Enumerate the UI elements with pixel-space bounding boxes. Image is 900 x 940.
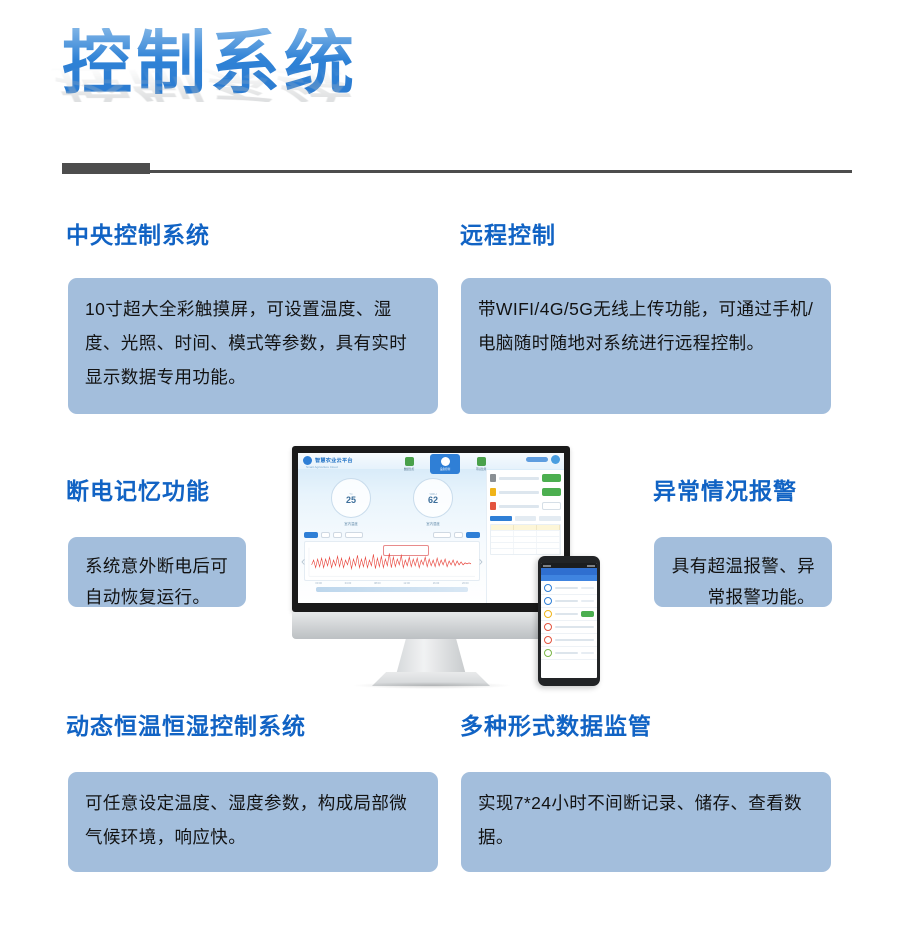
table-row[interactable]	[491, 548, 560, 554]
card-abnormal-alarm: 具有超温报警、异常报警功能。	[654, 537, 832, 607]
phone-item-label	[555, 587, 578, 590]
dashboard-user-area[interactable]	[526, 455, 560, 464]
card-power-outage-memory: 系统意外断电后可自动恢复运行。	[68, 537, 246, 607]
chart-line-series	[305, 542, 479, 580]
pump-control-icon	[544, 649, 552, 657]
chart-x-tick: 20:00	[462, 582, 469, 585]
mobile-phone	[538, 556, 600, 686]
control-label	[499, 505, 539, 508]
user-name-pill	[526, 457, 548, 462]
monitor-stand-neck	[396, 639, 466, 675]
light-bulb-icon	[490, 488, 496, 496]
gauge-value: 62	[428, 496, 438, 505]
phone-item-label	[555, 613, 578, 616]
side-data-table	[490, 524, 561, 555]
chart-export-button[interactable]	[433, 532, 451, 538]
chart-date-input[interactable]	[345, 532, 363, 538]
device-illustration: 智慧农业云平台 Smart Agriculture Cloud 数据监控 设备控…	[292, 446, 582, 686]
platform-subtitle: Smart Agriculture Cloud	[306, 465, 338, 469]
phone-list-item[interactable]	[541, 608, 597, 621]
chart-toolbar-right	[433, 532, 480, 538]
table-cell	[537, 543, 560, 548]
table-row[interactable]	[491, 536, 560, 542]
chart-plot-area: ‹ ›	[304, 541, 480, 581]
gauge-caption: 室内湿度	[426, 521, 440, 526]
table-cell	[514, 543, 537, 548]
divider-thin-line	[62, 170, 852, 173]
table-cell	[491, 531, 514, 536]
control-row[interactable]	[490, 488, 561, 496]
phone-list-item[interactable]	[541, 582, 597, 595]
fan-control-icon	[544, 610, 552, 618]
table-cell	[537, 549, 560, 554]
heading-remote-control: 远程控制	[460, 224, 556, 247]
card-central-control: 10寸超大全彩触摸屏，可设置温度、湿度、光照、时间、模式等参数，具有实时显示数据…	[68, 278, 438, 414]
heading-dynamic-temp-humidity: 动态恒温恒湿控制系统	[66, 715, 306, 738]
side-tab[interactable]	[515, 516, 537, 521]
card-dynamic-temp-humidity: 可任意设定温度、湿度参数，构成局部微气候环境，响应快。	[68, 772, 438, 872]
chart-range-button[interactable]	[321, 532, 330, 538]
gauge-caption: 室内温度	[344, 521, 358, 526]
divider-thick-block	[62, 163, 150, 174]
heading-multi-form-data: 多种形式数据监管	[460, 715, 652, 738]
phone-item-label	[555, 652, 578, 655]
control-row[interactable]	[490, 502, 561, 510]
gear-icon	[441, 457, 450, 466]
chart-x-tick: 04:00	[345, 582, 352, 585]
monitor-bezel-chin	[292, 612, 570, 639]
chart-toolbar	[304, 532, 480, 538]
phone-item-label	[555, 626, 594, 629]
chart-x-tick: 16:00	[433, 582, 440, 585]
control-toggle-button[interactable]	[542, 502, 561, 510]
chart-next-arrow-icon[interactable]: ›	[479, 555, 483, 568]
table-header-cell	[491, 525, 514, 530]
hero-title-block: 控制系统 控制系统	[62, 28, 582, 153]
heading-abnormal-alarm: 异常情况报警	[653, 480, 797, 503]
phone-toggle-button[interactable]	[581, 611, 594, 617]
control-toggle-button[interactable]	[542, 488, 561, 496]
phone-item-label	[555, 639, 594, 642]
phone-list-item[interactable]	[541, 647, 597, 660]
phone-item-value	[581, 587, 594, 590]
table-header-cell	[514, 525, 537, 530]
side-tab[interactable]	[539, 516, 561, 521]
page-title: 控制系统	[62, 28, 582, 98]
table-header-cell	[537, 525, 560, 530]
phone-app-header	[541, 568, 597, 575]
chart-x-tick: 08:00	[374, 582, 381, 585]
control-label	[499, 477, 539, 480]
monitor-icon	[405, 457, 414, 466]
chart-x-tick: 00:00	[315, 582, 322, 585]
gauge-dial: %RH 62	[413, 478, 453, 518]
phone-app-subheader	[541, 575, 597, 581]
chart-x-axis: 00:00 04:00 08:00 12:00 16:00 20:00	[304, 582, 480, 585]
control-row[interactable]	[490, 474, 561, 482]
avatar	[551, 455, 560, 464]
monitor-screen: 智慧农业云平台 Smart Agriculture Cloud 数据监控 设备控…	[298, 453, 564, 603]
table-row[interactable]	[491, 542, 560, 548]
table-cell	[514, 549, 537, 554]
table-cell	[491, 543, 514, 548]
chart-range-button[interactable]	[333, 532, 342, 538]
chart-range-button[interactable]	[304, 532, 318, 538]
card-multi-form-data: 实现7*24小时不间断记录、储存、查看数据。	[461, 772, 831, 872]
chart-filter-button[interactable]	[454, 532, 463, 538]
card-remote-control: 带WIFI/4G/5G无线上传功能，可通过手机/电脑随时随地对系统进行远程控制。	[461, 278, 831, 414]
table-row[interactable]	[491, 530, 560, 536]
table-cell	[491, 549, 514, 554]
dashboard-logo: 智慧农业云平台	[303, 456, 353, 465]
logo-mark-icon	[303, 456, 312, 465]
gauge-humidity: %RH 62 室内湿度	[413, 478, 453, 526]
section-divider	[62, 163, 852, 175]
humidify-control-icon	[544, 636, 552, 644]
humidifier-icon	[490, 502, 496, 510]
fan-icon	[490, 474, 496, 482]
phone-item-value	[581, 652, 594, 655]
gauge-value: 25	[346, 496, 356, 505]
gauge-dial: °C 25	[331, 478, 371, 518]
light-control-icon	[544, 623, 552, 631]
table-cell	[491, 537, 514, 542]
phone-list-item[interactable]	[541, 595, 597, 608]
chart-horizontal-scrollbar[interactable]	[316, 587, 468, 592]
table-cell	[537, 531, 560, 536]
signal-icon	[543, 565, 551, 567]
gauge-group: °C 25 室内温度 %RH 62 室内湿度	[298, 478, 486, 526]
temperature-icon	[544, 584, 552, 592]
heading-central-control: 中央控制系统	[66, 224, 210, 247]
table-header-row	[491, 525, 560, 530]
platform-name: 智慧农业云平台	[315, 457, 353, 464]
chart-x-tick: 12:00	[403, 582, 410, 585]
gauge-temperature: °C 25 室内温度	[331, 478, 371, 526]
side-tab-bar	[490, 516, 561, 521]
table-cell	[514, 537, 537, 542]
desktop-monitor: 智慧农业云平台 Smart Agriculture Cloud 数据监控 设备控…	[292, 446, 570, 612]
table-cell	[514, 531, 537, 536]
side-tab[interactable]	[490, 516, 512, 521]
device-drop-shadow	[352, 682, 512, 689]
control-label	[499, 491, 539, 494]
chart-refresh-button[interactable]	[466, 532, 480, 538]
phone-screen	[541, 563, 597, 678]
dashboard-main: °C 25 室内温度 %RH 62 室内湿度	[298, 470, 486, 603]
heading-power-outage-memory: 断电记忆功能	[66, 480, 210, 503]
cloud-icon	[477, 457, 486, 466]
phone-item-label	[555, 600, 578, 603]
phone-item-value	[581, 600, 594, 603]
dashboard-chart-panel: ‹ › 00:00 04:00 08:00	[304, 532, 480, 590]
table-cell	[537, 537, 560, 542]
phone-list-item[interactable]	[541, 621, 597, 634]
page-root: 控制系统 控制系统 中央控制系统 10寸超大全彩触摸屏，可设置温度、湿度、光照、…	[0, 0, 900, 940]
humidity-icon	[544, 597, 552, 605]
battery-icon	[587, 565, 595, 567]
phone-list-item[interactable]	[541, 634, 597, 647]
control-toggle-button[interactable]	[542, 474, 561, 482]
